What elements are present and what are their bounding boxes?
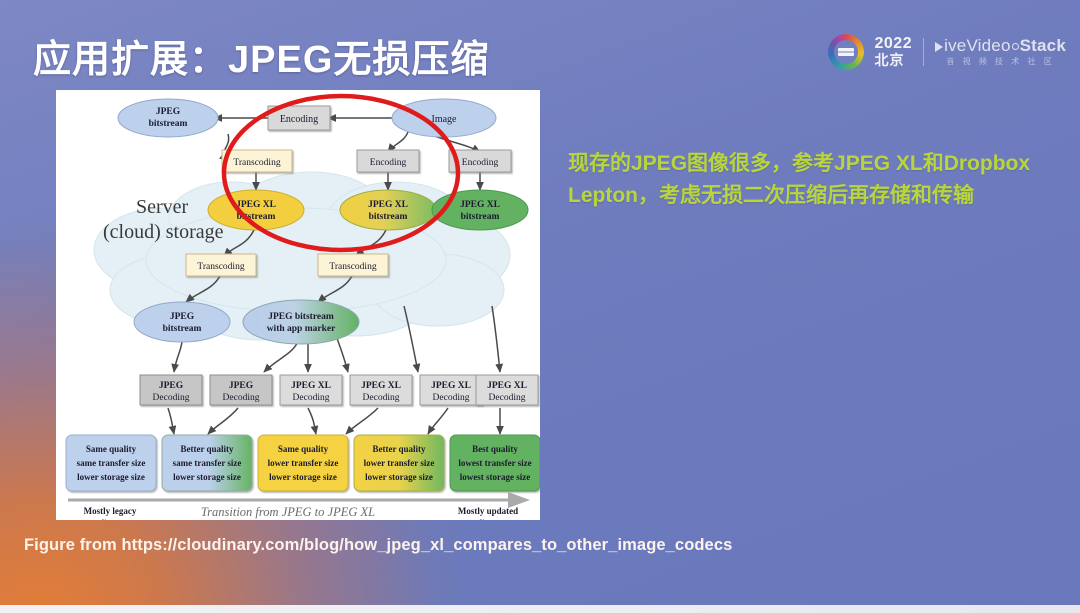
node-transcoding-r3-b: Transcoding [318, 254, 388, 276]
svg-text:with app marker: with app marker [267, 324, 336, 334]
ring-icon-glyph [838, 48, 854, 56]
slide-bottom-edge [0, 605, 1080, 613]
svg-text:JPEG XL: JPEG XL [431, 381, 471, 391]
livevideostack-wordmark: iveVideoStack [935, 37, 1066, 56]
svg-text:bitstream: bitstream [149, 119, 188, 129]
svg-text:Better quality: Better quality [180, 444, 234, 454]
svg-text:Better quality: Better quality [372, 444, 426, 454]
outcome-card: Same quality lower transfer size lower s… [258, 435, 348, 491]
event-ring-icon [828, 34, 864, 70]
svg-text:lowest storage size: lowest storage size [460, 472, 530, 482]
svg-text:Encoding: Encoding [370, 158, 407, 168]
svg-text:lowest transfer size: lowest transfer size [458, 458, 531, 468]
svg-text:Decoding: Decoding [489, 393, 526, 403]
svg-text:same transfer size: same transfer size [173, 458, 242, 468]
dot-icon [1012, 43, 1019, 50]
axis-label-center: Transition from JPEG to JPEG XL [201, 505, 375, 519]
svg-text:JPEG bitstream: JPEG bitstream [268, 312, 334, 322]
outcome-card: Better quality same transfer size lower … [162, 435, 252, 491]
node-jpegxl-decoding-1: JPEG XL Decoding [280, 375, 342, 405]
axis-label-right: Mostly updated [458, 506, 518, 516]
slide-body-text: 现存的JPEG图像很多，参考JPEG XL和Dropbox Lepton，考虑无… [568, 148, 1068, 212]
svg-text:JPEG: JPEG [229, 381, 254, 391]
node-jpegxl-bitstream-yellowgreen: JPEG XL bitstream [340, 190, 436, 230]
svg-text:Decoding: Decoding [223, 393, 260, 403]
jpeg-xl-transition-diagram: Server (cloud) storage [56, 90, 540, 520]
outcome-card: Same quality same transfer size lower st… [66, 435, 156, 491]
svg-text:Encoding: Encoding [280, 114, 318, 125]
svg-text:JPEG XL: JPEG XL [236, 200, 276, 210]
logo-divider [923, 38, 924, 66]
svg-text:Decoding: Decoding [293, 393, 330, 403]
svg-text:lower transfer size: lower transfer size [268, 458, 339, 468]
node-image: Image [392, 99, 496, 137]
livevideostack-subtitle: 音 视 频 技 术 社 区 [935, 58, 1066, 67]
node-jpeg-bitstream-top: JPEG bitstream [118, 99, 218, 137]
svg-text:JPEG XL: JPEG XL [291, 381, 331, 391]
livevideostack-logo: iveVideoStack 音 视 频 技 术 社 区 [935, 37, 1066, 66]
svg-text:Decoding: Decoding [363, 393, 400, 403]
node-jpeg-decoding-1: JPEG Decoding [140, 375, 202, 405]
page-title: 应用扩展：JPEG无损压缩 [33, 28, 489, 83]
svg-text:Encoding: Encoding [462, 158, 499, 168]
node-jpegxl-decoding-4: JPEG XL Decoding [476, 375, 538, 405]
svg-text:Decoding: Decoding [433, 393, 470, 403]
node-transcoding-r1: Transcoding [222, 150, 292, 172]
svg-text:JPEG XL: JPEG XL [361, 381, 401, 391]
svg-text:JPEG: JPEG [170, 312, 195, 322]
svg-text:lower transfer size: lower transfer size [364, 458, 435, 468]
axis-label-left: Mostly legacy [84, 506, 137, 516]
node-encoding-r1-a: Encoding [357, 150, 419, 172]
svg-text:JPEG XL: JPEG XL [368, 200, 408, 210]
svg-text:JPEG: JPEG [159, 381, 184, 391]
svg-text:lower storage size: lower storage size [269, 472, 337, 482]
node-jpegxl-decoding-2: JPEG XL Decoding [350, 375, 412, 405]
cloud-label-line1: Server [136, 196, 189, 218]
svg-text:clients: clients [476, 518, 501, 520]
svg-text:same transfer size: same transfer size [77, 458, 146, 468]
node-jpegxl-decoding-3: JPEG XL Decoding [420, 375, 482, 405]
node-jpeg-decoding-2: JPEG Decoding [210, 375, 272, 405]
svg-text:clients: clients [98, 518, 123, 520]
cloud-label-line2: (cloud) storage [103, 221, 224, 243]
svg-text:lower storage size: lower storage size [365, 472, 433, 482]
svg-text:Transcoding: Transcoding [197, 262, 244, 272]
node-jpeg-bitstream-app-marker: JPEG bitstream with app marker [243, 300, 359, 344]
node-transcoding-r3-a: Transcoding [186, 254, 256, 276]
svg-text:JPEG XL: JPEG XL [460, 200, 500, 210]
outcome-card: Best quality lowest transfer size lowest… [450, 435, 540, 491]
event-city: 北京 [875, 53, 913, 68]
svg-text:Same quality: Same quality [86, 444, 137, 454]
svg-text:lower storage size: lower storage size [77, 472, 145, 482]
svg-text:Transcoding: Transcoding [233, 158, 280, 168]
event-year: 2022 [875, 36, 913, 53]
node-jpeg-bitstream-mid: JPEG bitstream [134, 302, 230, 342]
svg-text:bitstream: bitstream [369, 212, 408, 222]
svg-text:Decoding: Decoding [153, 393, 190, 403]
wordmark-stack: Stack [1020, 36, 1066, 55]
svg-text:lower storage size: lower storage size [173, 472, 241, 482]
svg-text:Transcoding: Transcoding [329, 262, 376, 272]
svg-text:bitstream: bitstream [461, 212, 500, 222]
svg-text:Same quality: Same quality [278, 444, 329, 454]
event-year-badge: 2022 北京 [875, 36, 913, 67]
wordmark-ive: ive [944, 36, 966, 55]
figure-caption: Figure from https://cloudinary.com/blog/… [24, 536, 732, 555]
outcome-card: Better quality lower transfer size lower… [354, 435, 444, 491]
svg-text:Best quality: Best quality [472, 444, 518, 454]
play-icon [935, 42, 943, 52]
svg-text:Image: Image [432, 114, 458, 125]
svg-text:JPEG: JPEG [156, 107, 181, 117]
branding-header: 2022 北京 iveVideoStack 音 视 频 技 术 社 区 [828, 30, 1067, 74]
svg-text:bitstream: bitstream [163, 324, 202, 334]
wordmark-video: Video [966, 36, 1010, 55]
figure-panel: Server (cloud) storage [56, 90, 540, 520]
svg-text:JPEG XL: JPEG XL [487, 381, 527, 391]
